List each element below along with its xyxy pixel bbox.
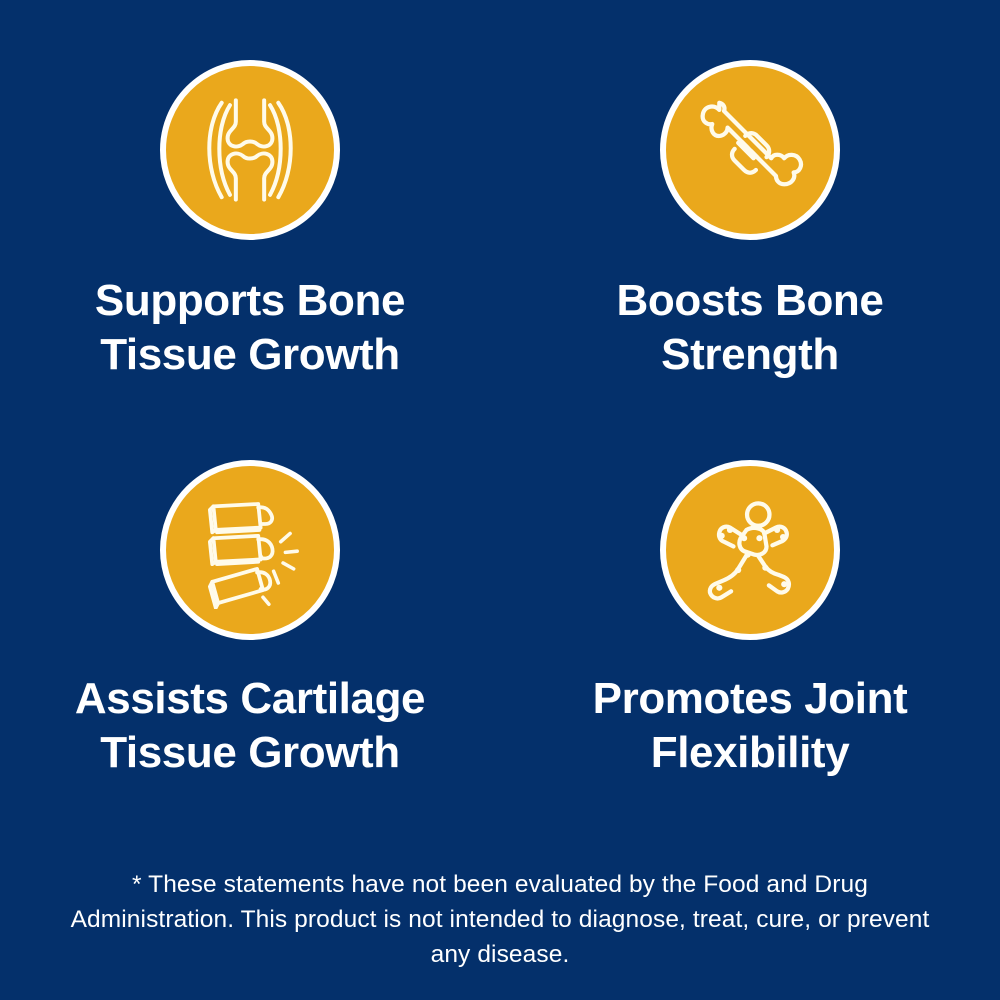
benefit-label: Assists Cartilage Tissue Growth: [75, 672, 425, 779]
benefit-label: Boosts Bone Strength: [617, 274, 884, 381]
benefits-grid: Supports Bone Tissue Growth: [0, 60, 1000, 860]
fda-disclaimer: * These statements have not been evaluat…: [50, 868, 950, 972]
bone-strength-icon: [691, 91, 809, 209]
spine-vertebrae-icon: [191, 491, 309, 609]
benefit-label: Supports Bone Tissue Growth: [95, 274, 405, 381]
benefit-item-promotes-joint-flexibility: Promotes Joint Flexibility: [500, 460, 1000, 860]
benefit-item-assists-cartilage-tissue-growth: Assists Cartilage Tissue Growth: [0, 460, 500, 860]
benefit-item-supports-bone-tissue-growth: Supports Bone Tissue Growth: [0, 60, 500, 460]
benefits-panel: Supports Bone Tissue Growth: [0, 0, 1000, 1000]
knee-joint-icon: [191, 91, 309, 209]
knee-joint-icon-badge: [160, 60, 340, 240]
running-person-icon-badge: [660, 460, 840, 640]
benefit-label: Promotes Joint Flexibility: [593, 672, 908, 779]
bone-strength-icon-badge: [660, 60, 840, 240]
running-person-icon: [691, 491, 809, 609]
spine-vertebrae-icon-badge: [160, 460, 340, 640]
benefit-item-boosts-bone-strength: Boosts Bone Strength: [500, 60, 1000, 460]
